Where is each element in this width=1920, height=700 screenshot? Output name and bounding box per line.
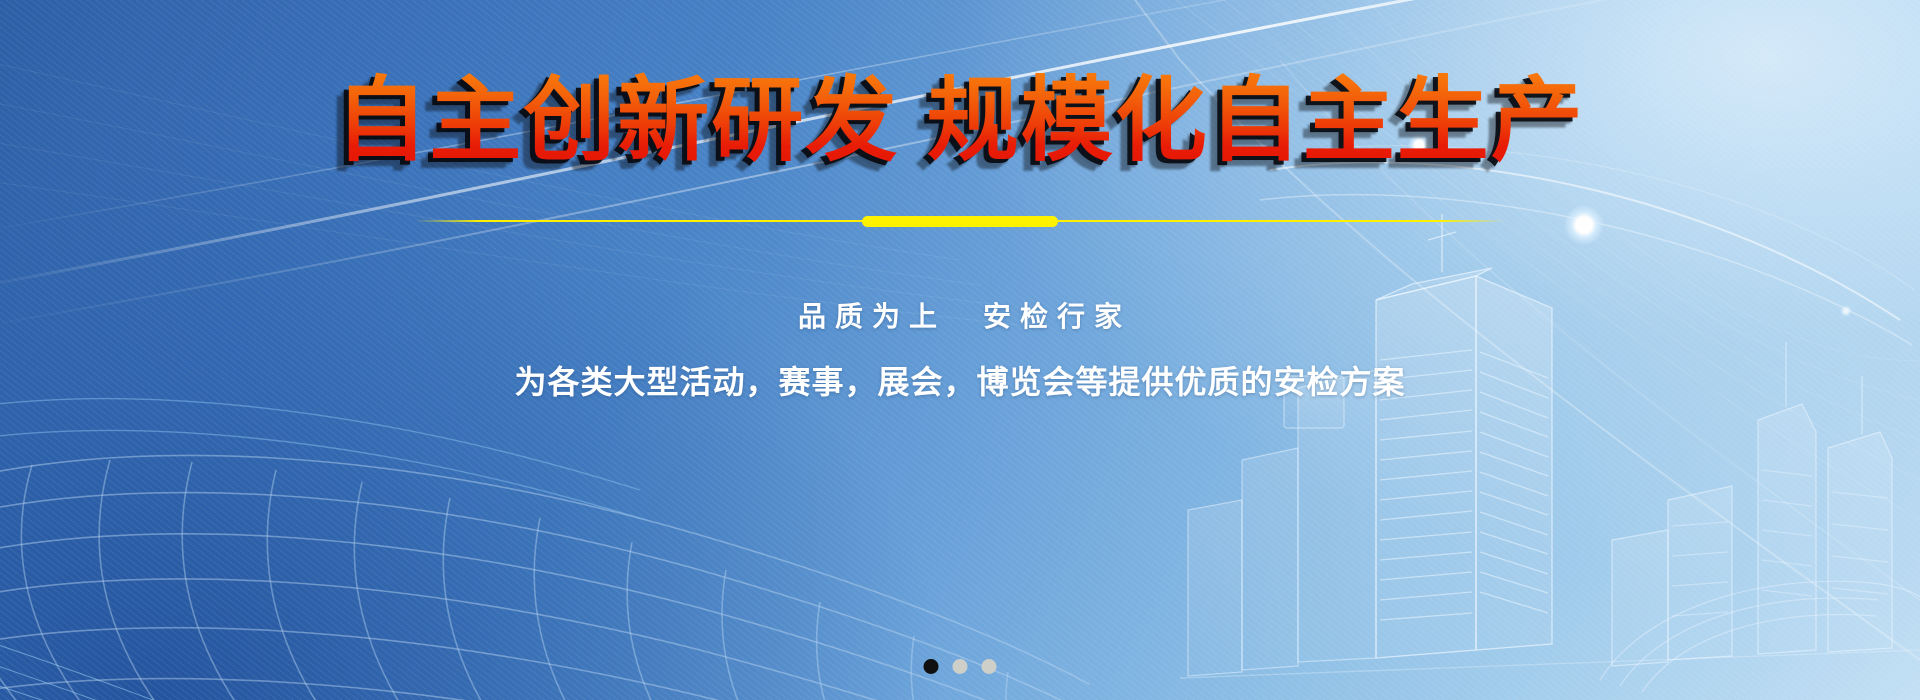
banner-content: 自主创新研发 规模化自主生产 品质为上 安检行家 为各类大型活动，赛事，展会，博…: [0, 0, 1920, 700]
page-title: 自主创新研发 规模化自主生产: [335, 72, 1585, 171]
title-divider: [415, 215, 1505, 227]
tagline: 品质为上 安检行家: [789, 295, 1131, 335]
carousel-dot-3[interactable]: [982, 659, 997, 674]
divider-center-nub: [862, 216, 1058, 227]
sub-tagline: 为各类大型活动，赛事，展会，博览会等提供优质的安检方案: [514, 357, 1405, 403]
hero-banner: 自主创新研发 规模化自主生产 品质为上 安检行家 为各类大型活动，赛事，展会，博…: [0, 0, 1920, 700]
carousel-dot-1[interactable]: [924, 659, 939, 674]
carousel-dot-2[interactable]: [953, 659, 968, 674]
carousel-dots: [924, 659, 997, 674]
